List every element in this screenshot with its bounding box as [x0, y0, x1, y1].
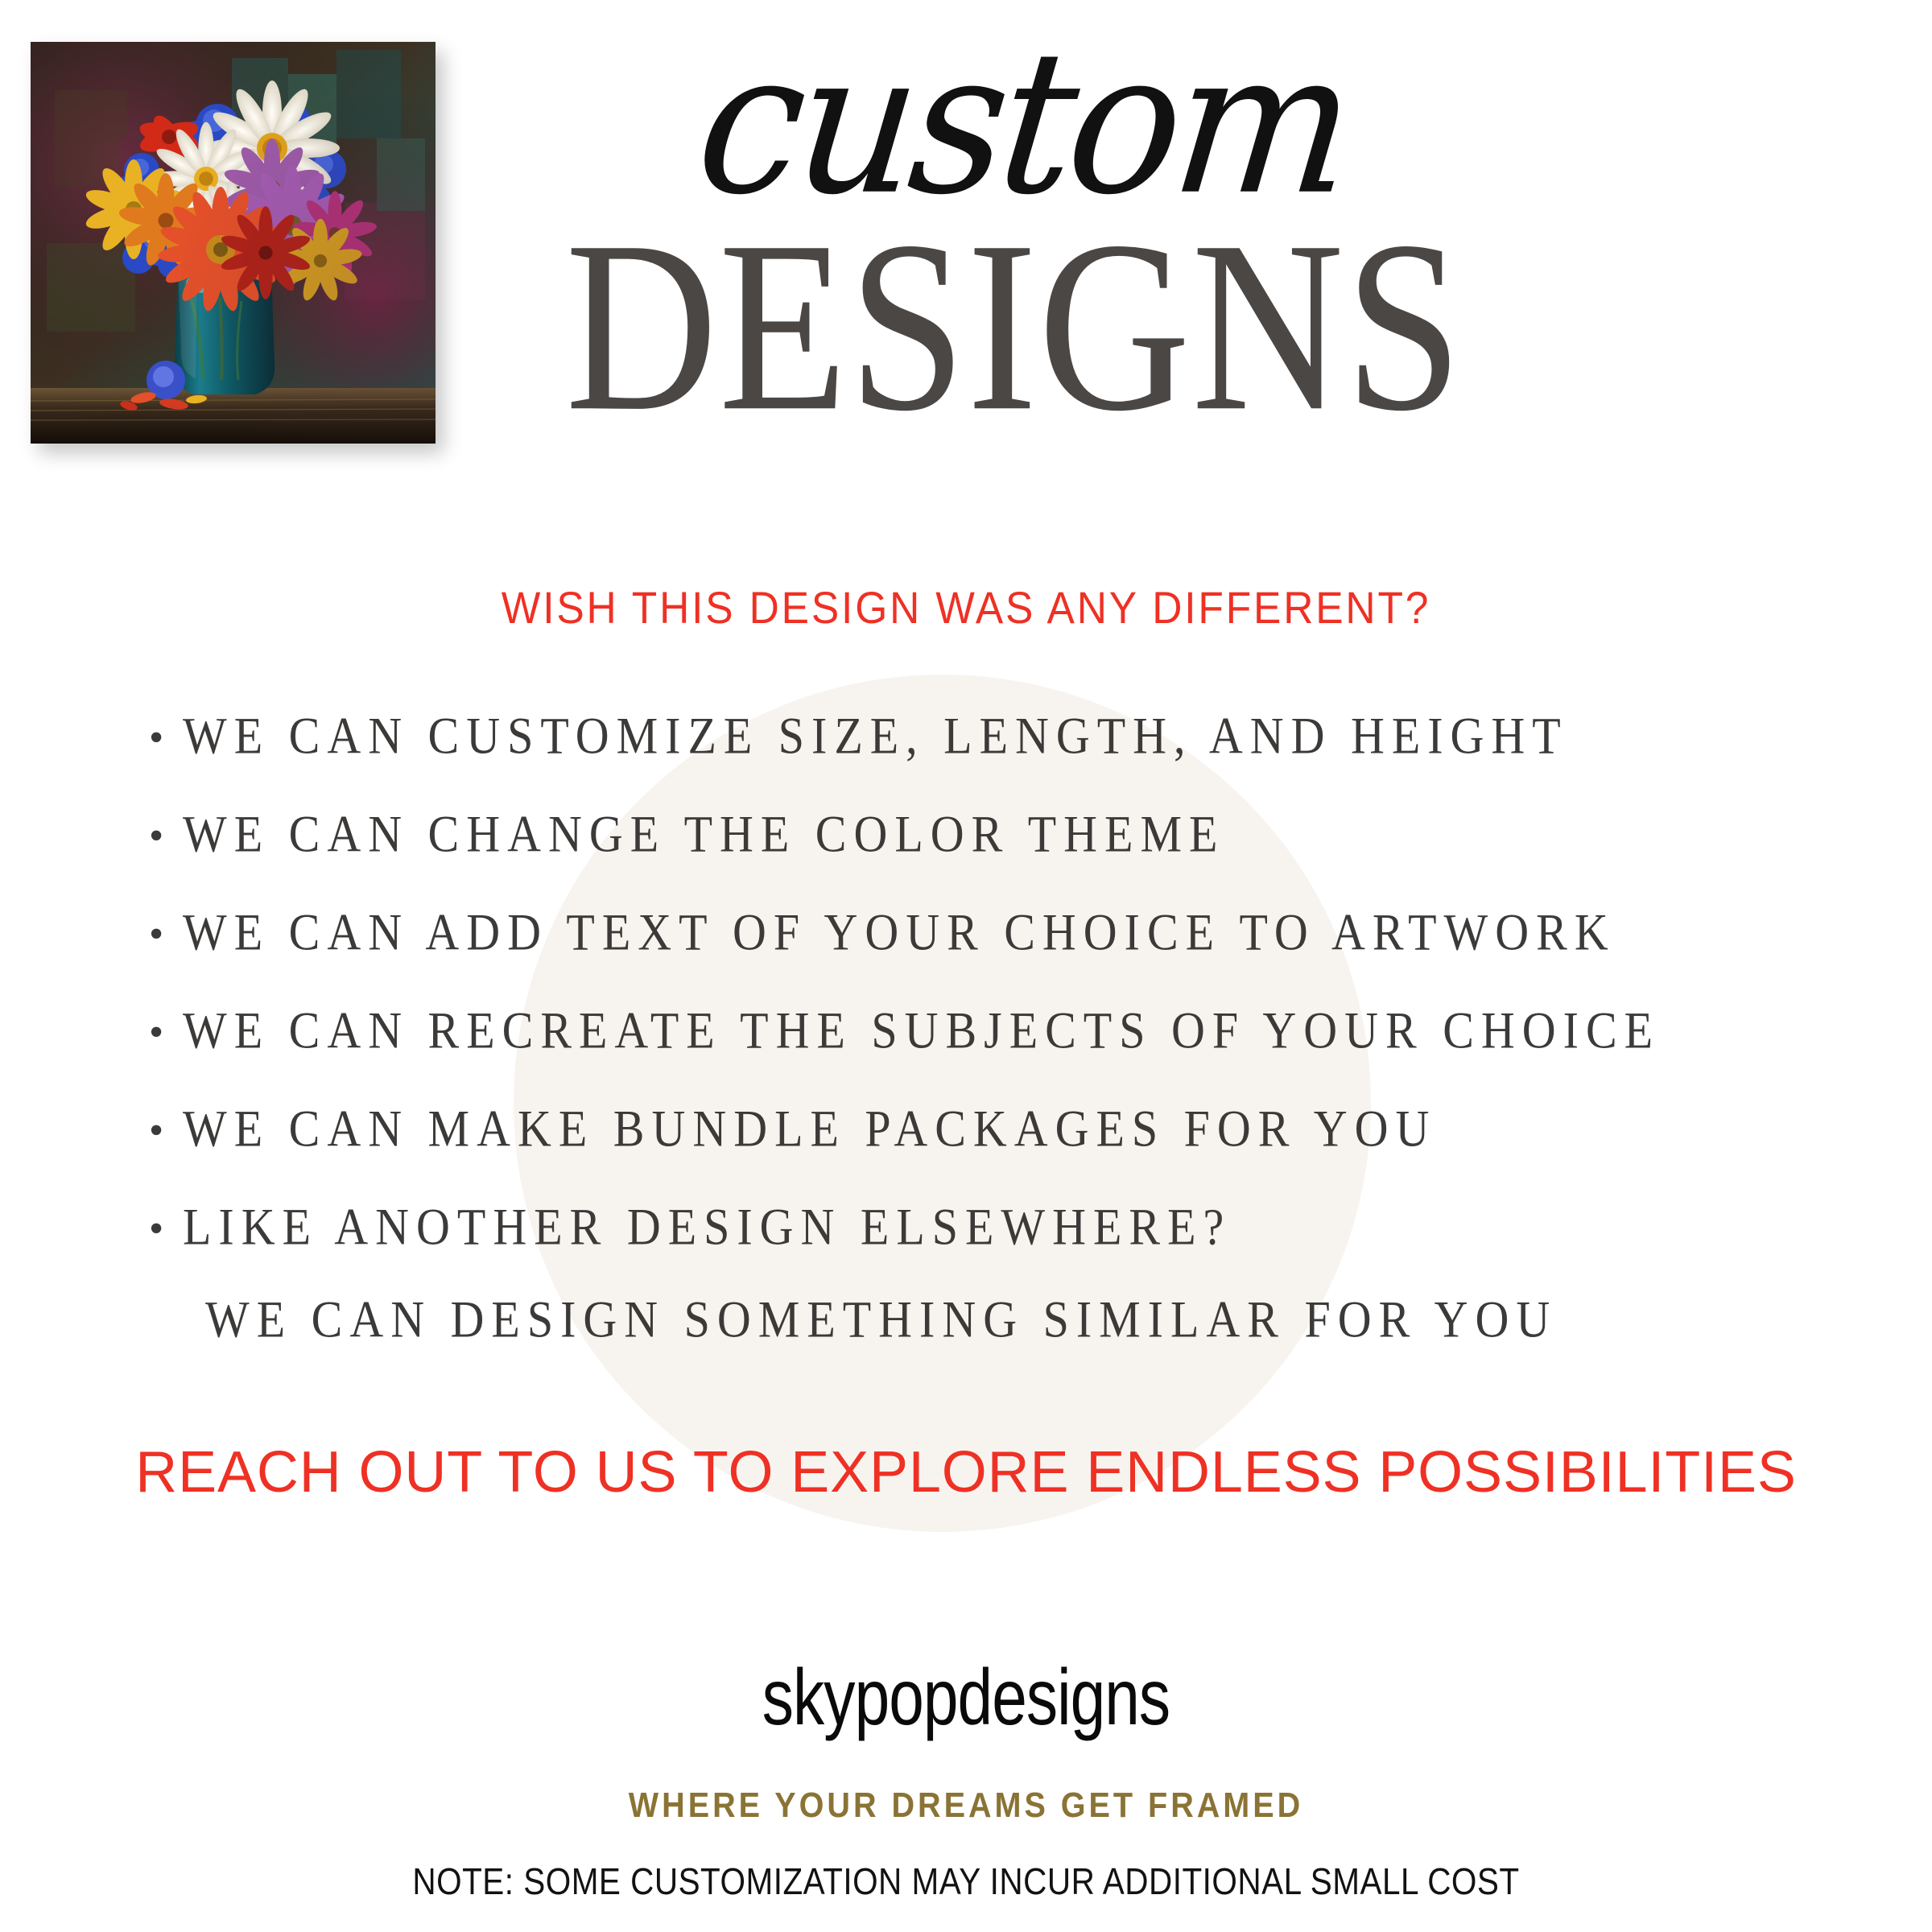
artwork-thumbnail [31, 42, 436, 444]
list-item: • WE CAN ADD TEXT OF YOUR CHOICE TO ARTW… [149, 905, 1839, 1003]
list-item-label: WE CAN CUSTOMIZE SIZE, LENGTH, AND HEIGH… [183, 705, 1839, 766]
footnote-text: NOTE: SOME CUSTOMIZATION MAY INCUR ADDIT… [116, 1860, 1816, 1903]
list-item: • WE CAN CHANGE THE COLOR THEME [149, 807, 1839, 905]
list-item-label: WE CAN MAKE BUNDLE PACKAGES FOR YOU [183, 1098, 1839, 1158]
list-item: • WE CAN MAKE BUNDLE PACKAGES FOR YOU [149, 1101, 1839, 1199]
script-word-custom: custom [451, 39, 1596, 208]
list-item-label: WE CAN ADD TEXT OF YOUR CHOICE TO ARTWOR… [183, 902, 1839, 962]
bullet-dot-icon: • [149, 717, 183, 759]
bullet-dot-icon: • [149, 1110, 183, 1152]
list-item-label: LIKE ANOTHER DESIGN ELSEWHERE? [183, 1196, 1839, 1257]
feature-bullet-list: • WE CAN CUSTOMIZE SIZE, LENGTH, AND HEI… [149, 708, 1839, 1298]
list-item-continuation: WE CAN DESIGN SOMETHING SIMILAR FOR YOU [205, 1289, 1557, 1349]
bullet-dot-icon: • [149, 1208, 183, 1250]
list-item-label: WE CAN RECREATE THE SUBJECTS OF YOUR CHO… [183, 1000, 1839, 1060]
bullet-dot-icon: • [149, 1012, 183, 1054]
floral-still-life-painting [31, 42, 436, 444]
call-to-action-text: REACH OUT TO US TO EXPLORE ENDLESS POSSI… [0, 1439, 1932, 1505]
bullet-dot-icon: • [149, 815, 183, 857]
list-item: • WE CAN RECREATE THE SUBJECTS OF YOUR C… [149, 1003, 1839, 1101]
header-block: custom DESIGNS [451, 48, 1578, 408]
list-item-label: WE CAN CHANGE THE COLOR THEME [183, 803, 1839, 864]
list-item: • WE CAN CUSTOMIZE SIZE, LENGTH, AND HEI… [149, 708, 1839, 807]
bullet-dot-icon: • [149, 914, 183, 956]
subtitle-question: WISH THIS DESIGN WAS ANY DIFFERENT? [77, 581, 1855, 634]
promotional-poster: custom DESIGNS WISH THIS DESIGN WAS ANY … [0, 0, 1932, 1932]
list-item: • LIKE ANOTHER DESIGN ELSEWHERE? [149, 1199, 1839, 1298]
brand-name: skypopdesigns [193, 1652, 1739, 1743]
page-title-designs: DESIGNS [451, 214, 1578, 440]
brand-tagline: WHERE YOUR DREAMS GET FRAMED [97, 1785, 1835, 1826]
